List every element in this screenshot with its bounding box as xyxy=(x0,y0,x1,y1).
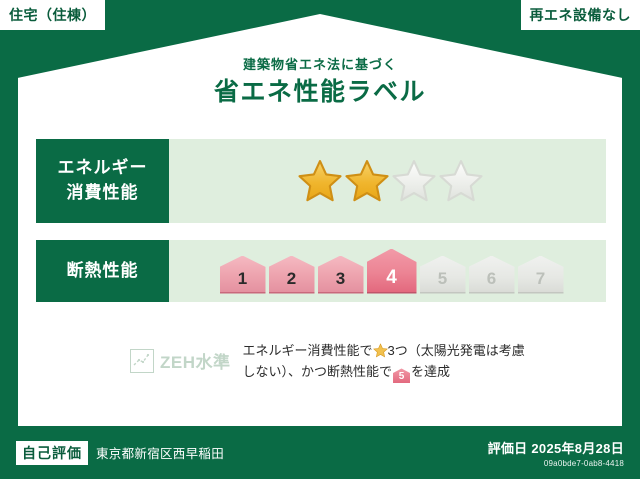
energy-performance-value xyxy=(169,139,606,223)
insulation-grade-badge: 7 xyxy=(518,256,564,294)
energy-label-line1: エネルギー xyxy=(58,156,148,181)
zeh-desc-part3: を達成 xyxy=(411,364,450,379)
energy-performance-row: エネルギー 消費性能 xyxy=(36,139,606,223)
insulation-grade-badge: 4 xyxy=(367,249,417,294)
label-footer: 自己評価 東京都新宿区西早稲田 評価日 2025年8月28日 09a0bde7-… xyxy=(0,426,640,479)
insulation-grade-badge: 2 xyxy=(269,256,315,294)
insulation-grade-number: 5 xyxy=(438,269,447,289)
evaluation-date: 評価日 2025年8月28日 xyxy=(488,438,624,457)
evaluation-type-badge: 自己評価 xyxy=(16,441,88,465)
star-empty-icon xyxy=(391,158,437,204)
insulation-performance-value: 1234567 xyxy=(169,240,606,302)
inline-house-grade-number: 5 xyxy=(399,371,405,382)
zeh-desc-part1: エネルギー消費性能で xyxy=(243,343,373,358)
insulation-grade-number: 7 xyxy=(536,269,545,289)
star-rating xyxy=(297,158,484,204)
star-filled-icon xyxy=(297,158,343,204)
insulation-performance-label: 断熱性能 xyxy=(36,240,169,302)
insulation-grade-badge: 6 xyxy=(469,256,515,294)
insulation-performance-row: 断熱性能 1234567 xyxy=(36,240,606,302)
insulation-grade-number: 6 xyxy=(487,269,496,289)
energy-label-line2: 消費性能 xyxy=(67,181,139,206)
zeh-standard-row: ZEH水準 エネルギー消費性能で 3つ（太陽光発電は考慮しない）、かつ断熱性能で… xyxy=(130,340,533,383)
zeh-desc-star-count: 3つ（太陽光発電 xyxy=(388,343,486,358)
star-empty-icon xyxy=(438,158,484,204)
zeh-description: エネルギー消費性能で 3つ（太陽光発電は考慮しない）、かつ断熱性能で5を達成 xyxy=(243,340,533,383)
inline-house-grade-badge: 5 xyxy=(393,368,410,383)
insulation-grade-badge: 3 xyxy=(318,256,364,294)
inline-star-icon xyxy=(373,343,388,358)
insulation-grade-badge: 5 xyxy=(420,256,466,294)
insulation-grade-number: 1 xyxy=(238,269,247,289)
energy-performance-label: 住宅（住棟） 再エネ設備なし 建築物省エネ法に基づく 省エネ性能ラベル エネルギ… xyxy=(0,0,640,479)
zeh-chart-icon xyxy=(130,349,154,373)
insulation-grade-number: 4 xyxy=(386,267,397,289)
insulation-grade-number: 3 xyxy=(336,269,345,289)
insulation-label-line1: 断熱性能 xyxy=(67,259,139,284)
zeh-badge: ZEH水準 xyxy=(130,348,231,373)
property-address: 東京都新宿区西早稲田 xyxy=(96,443,224,462)
footer-right-group: 評価日 2025年8月28日 09a0bde7-0ab8-4418 xyxy=(488,438,624,468)
building-type-badge: 住宅（住棟） xyxy=(0,0,105,30)
renewable-energy-badge: 再エネ設備なし xyxy=(521,0,640,30)
insulation-grade-scale: 1234567 xyxy=(220,249,564,294)
zeh-label: ZEH水準 xyxy=(160,348,231,373)
energy-performance-label: エネルギー 消費性能 xyxy=(36,139,169,223)
evaluation-id: 09a0bde7-0ab8-4418 xyxy=(488,459,624,468)
insulation-grade-badge: 1 xyxy=(220,256,266,294)
insulation-grade-number: 2 xyxy=(287,269,296,289)
star-filled-icon xyxy=(344,158,390,204)
footer-left-group: 自己評価 東京都新宿区西早稲田 xyxy=(16,441,224,465)
